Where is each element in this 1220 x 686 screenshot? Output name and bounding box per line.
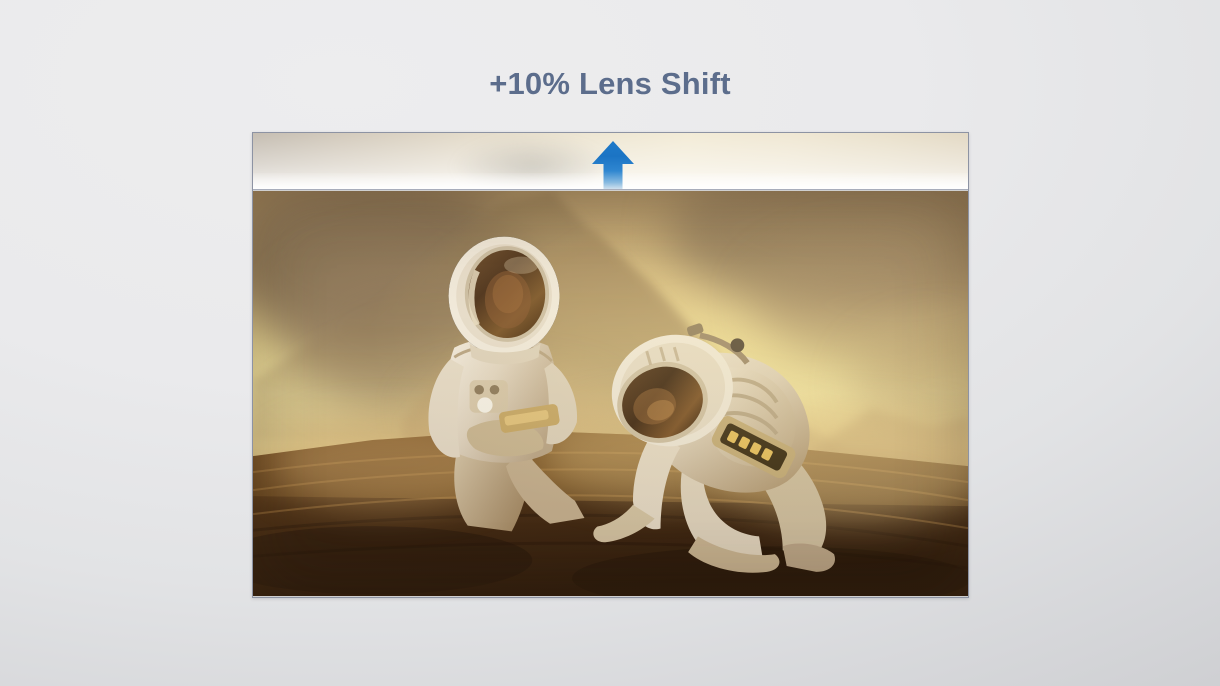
arrow-up-icon xyxy=(591,140,635,190)
projection-frame xyxy=(252,132,969,598)
astronaut-standing xyxy=(414,227,600,543)
projected-photo xyxy=(253,191,968,596)
page-title: +10% Lens Shift xyxy=(0,68,1220,99)
astronaut-kneeling xyxy=(589,292,846,588)
slide-canvas: +10% Lens Shift xyxy=(0,0,1220,686)
